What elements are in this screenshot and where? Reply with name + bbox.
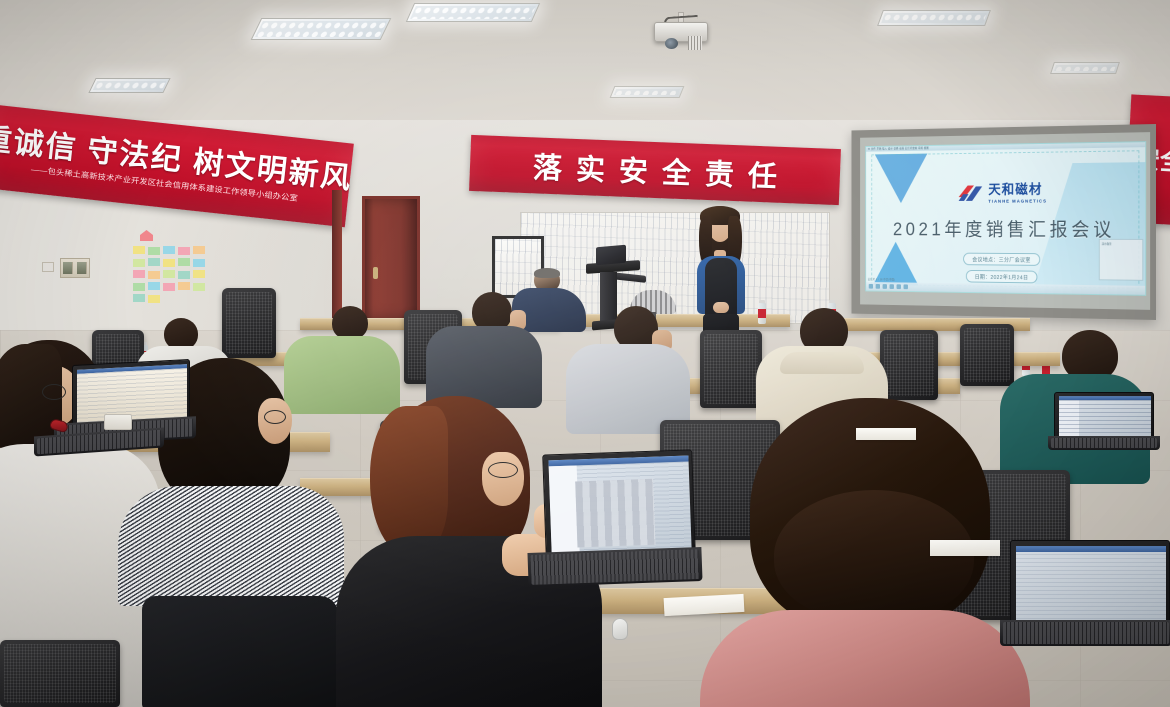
powerpoint-statusbar: 幻灯片 1 / 18 中文(中国) [868, 277, 895, 281]
projection-screen: W 文件 开始 插入 设计 切换 动画 幻灯片放映 审阅 视图 [852, 124, 1156, 320]
laptop-lid [1010, 540, 1170, 626]
attendee-body [700, 610, 1030, 707]
sticky-note [148, 282, 160, 290]
attendee-gray-vest [426, 292, 542, 400]
browser-icon[interactable] [876, 284, 880, 289]
privacy-blur-overlay [575, 479, 655, 548]
sticky-note [133, 259, 145, 267]
sticky-note [178, 271, 190, 279]
sticky-note [178, 247, 190, 255]
sticky-note [193, 270, 205, 278]
banner-middle-main: 落实安全责任 [518, 144, 791, 196]
laptop-screen[interactable] [1016, 546, 1166, 622]
sticky-note [193, 259, 205, 267]
papers [856, 428, 916, 440]
sticky-note [148, 258, 160, 266]
door-frame [332, 190, 342, 322]
app-sidebar [549, 465, 580, 554]
powerpoint-slide: W 文件 开始 插入 设计 切换 动画 幻灯片放映 审阅 视图 [865, 141, 1146, 296]
hoodie-hood [780, 352, 864, 374]
sticky-note [148, 271, 160, 279]
screen-content-rows [77, 364, 187, 424]
laptop-keyboard[interactable] [34, 427, 164, 456]
screen-content-rows [1016, 546, 1166, 622]
attendee-head [332, 306, 368, 340]
company-logo: 天和磁材 TIANHE MAGNETICS [866, 182, 1145, 204]
slide-side-panel: 演示备注 [1099, 239, 1143, 281]
sticky-note [133, 246, 145, 254]
laptop[interactable] [1048, 392, 1158, 452]
tissue-box [104, 414, 132, 430]
glasses-icon [264, 410, 286, 424]
sticky-note-board [130, 240, 208, 318]
chair[interactable] [880, 330, 938, 400]
sticky-note [148, 247, 160, 255]
laptop-keyboard[interactable] [527, 547, 702, 587]
laptop-screen[interactable] [77, 364, 187, 424]
sticky-note [178, 258, 190, 266]
ceiling-light [251, 18, 392, 40]
slide-meta-location: 会议地点：三分厂会议室 [963, 253, 1040, 266]
sticky-note [193, 283, 205, 291]
sticky-note [133, 270, 145, 278]
sticky-note [193, 246, 205, 254]
attendee-body [118, 486, 344, 606]
lectern-monitor [596, 245, 626, 266]
start-icon[interactable] [869, 284, 873, 289]
wireless-mouse[interactable] [612, 618, 628, 640]
laptop[interactable] [1000, 540, 1170, 660]
excel-icon[interactable] [897, 284, 901, 289]
slide-meta-date: 日期：2022年1月24日 [966, 270, 1038, 284]
sticky-note [163, 246, 175, 254]
attendee-face [482, 452, 524, 506]
chair[interactable] [700, 330, 762, 408]
sticky-note [163, 259, 175, 267]
sticky-note [163, 283, 175, 291]
projector-lens-icon [665, 38, 678, 49]
wall-panel [60, 258, 90, 278]
glasses-icon [488, 462, 518, 478]
wall-frame [42, 262, 54, 272]
laptop[interactable] [528, 452, 698, 622]
papers [930, 540, 1000, 556]
ppt-icon[interactable] [890, 284, 894, 289]
laptop-keyboard[interactable] [1000, 620, 1170, 646]
sticky-note [148, 295, 160, 303]
meeting-room-photo: 重诚信 守法纪 树文明新风 ——包头稀土高新技术产业开发区社会信用体系建设工作领… [0, 0, 1170, 707]
sticky-note [163, 270, 175, 278]
attendee-hair-waves [774, 490, 974, 622]
screen-content-rows [1059, 396, 1151, 436]
ceiling-light [1050, 62, 1120, 74]
sticky-note [133, 294, 145, 302]
projection-surface: W 文件 开始 插入 设计 切换 动画 幻灯片放映 审阅 视图 [860, 132, 1150, 310]
ceiling-light [88, 78, 170, 93]
logo-text: 天和磁材 TIANHE MAGNETICS [988, 183, 1047, 203]
laptop-lid [542, 449, 696, 558]
room-door[interactable] [362, 196, 420, 322]
attendee-hair-side [370, 406, 448, 556]
presenter-hands [713, 302, 729, 313]
ceiling-projector [648, 12, 712, 44]
projector-body [654, 22, 708, 42]
ceiling-light [406, 3, 540, 22]
presenter [686, 206, 754, 340]
projector-vent [688, 36, 702, 50]
laptop-screen[interactable] [1059, 396, 1151, 436]
ceiling-light [877, 10, 991, 26]
ceiling [0, 0, 1170, 132]
laptop-lid [1054, 392, 1154, 438]
logo-name-cn: 天和磁材 [988, 183, 1042, 196]
laptop-keyboard[interactable] [1048, 436, 1160, 450]
attendee-hair [534, 268, 560, 278]
wechat-icon[interactable] [904, 284, 908, 289]
ceiling-light [610, 86, 685, 98]
logo-name-en: TIANHE MAGNETICS [988, 198, 1047, 203]
sticky-note [133, 283, 145, 291]
tianhe-logo-icon [957, 183, 984, 203]
folder-icon[interactable] [883, 284, 887, 289]
chair[interactable] [0, 640, 120, 707]
laptop-screen[interactable] [548, 456, 691, 555]
sticky-note [178, 282, 190, 290]
attendee-lower-body [142, 596, 338, 707]
